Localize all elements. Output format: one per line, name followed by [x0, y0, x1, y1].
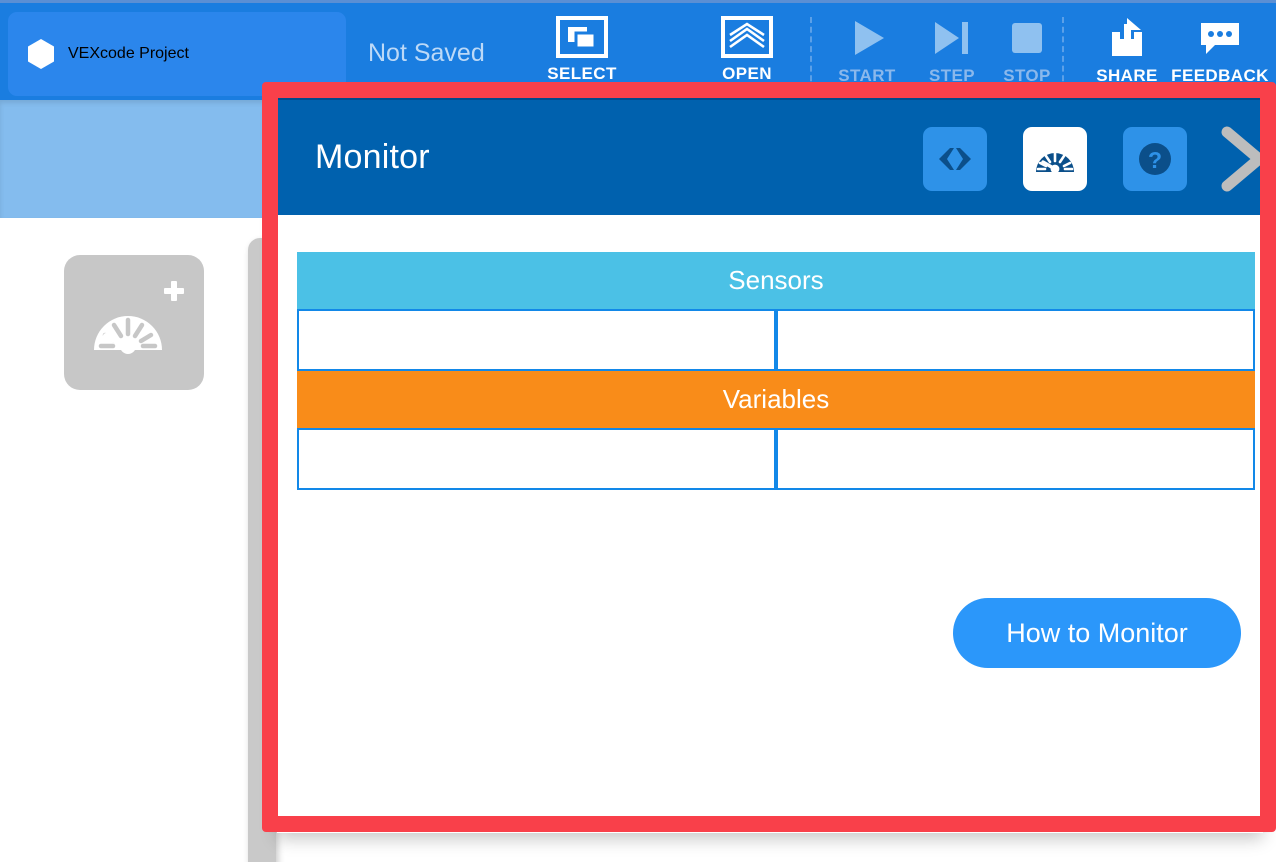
- monitor-title: Monitor: [315, 138, 430, 177]
- project-name-button[interactable]: VEXcode Project: [8, 12, 346, 96]
- hexagon-icon: [28, 39, 54, 69]
- variables-row: [297, 428, 1255, 490]
- svg-text:?: ?: [1148, 147, 1162, 173]
- variables-section-header: Variables: [297, 371, 1255, 428]
- toolbar-divider-1: [810, 17, 812, 91]
- toolbar-button-share[interactable]: SHARE: [1075, 11, 1179, 103]
- monitor-header: Monitor: [277, 97, 1263, 215]
- variables-header-label: Variables: [723, 384, 829, 415]
- toolbar-button-open[interactable]: OPEN VEX IQ (2nd gen): [695, 11, 799, 103]
- share-icon: [1104, 16, 1150, 60]
- toolbar-label-share: SHARE: [1096, 66, 1158, 86]
- toolbar-divider-2: [1062, 17, 1064, 91]
- help-button[interactable]: ?: [1123, 127, 1187, 191]
- question-mark-icon: ?: [1134, 138, 1176, 180]
- how-to-monitor-button[interactable]: How to Monitor: [953, 598, 1241, 668]
- toolbar-button-select[interactable]: SELECT VEX IQ (2nd gen): [530, 11, 634, 103]
- select-device-icon: [556, 16, 608, 58]
- add-gauge-icon: [80, 276, 188, 370]
- toolbar-label-start: START: [838, 66, 895, 86]
- monitor-view-button[interactable]: [1023, 127, 1087, 191]
- sensors-cell-right[interactable]: [776, 309, 1255, 371]
- monitor-table: Sensors Variables: [297, 252, 1255, 490]
- project-name-label: VEXcode Project: [68, 45, 189, 63]
- stop-icon: [1006, 16, 1048, 60]
- toolbar-label-feedback: FEEDBACK: [1171, 66, 1269, 86]
- top-toolbar: VEXcode Project Not Saved SELECT VEX IQ …: [0, 0, 1276, 100]
- sensors-section-header: Sensors: [297, 252, 1255, 309]
- monitor-dialog: Monitor: [277, 97, 1263, 833]
- variables-cell-right[interactable]: [776, 428, 1255, 490]
- chevron-right-icon: [1217, 126, 1273, 192]
- vexcode-app-window: VEXcode Project Not Saved SELECT VEX IQ …: [0, 0, 1276, 862]
- toolbar-label-open: OPEN: [722, 64, 772, 84]
- sensors-row: [297, 309, 1255, 371]
- toolbar-button-feedback[interactable]: FEEDBACK: [1168, 11, 1272, 103]
- monitor-body: Sensors Variables How to Monitor: [277, 215, 1263, 833]
- sensors-header-label: Sensors: [728, 265, 823, 296]
- feedback-bubble-icon: [1197, 16, 1243, 60]
- variables-cell-left[interactable]: [297, 428, 776, 490]
- step-icon: [929, 16, 975, 60]
- code-brackets-icon: [935, 146, 975, 172]
- add-gauge-tile-button[interactable]: [64, 255, 204, 390]
- toolbar-label-select: SELECT: [547, 64, 616, 84]
- sensors-cell-left[interactable]: [297, 309, 776, 371]
- code-view-button[interactable]: [923, 127, 987, 191]
- collapse-panel-button[interactable]: [1217, 126, 1276, 192]
- code-panel-edge: [248, 238, 276, 862]
- toolbar-label-stop: STOP: [1003, 66, 1051, 86]
- play-icon: [844, 16, 890, 60]
- gauge-icon: [1033, 141, 1077, 177]
- save-status-label: Not Saved: [368, 39, 485, 68]
- open-folder-icon: [721, 16, 773, 58]
- toolbar-label-step: STEP: [929, 66, 975, 86]
